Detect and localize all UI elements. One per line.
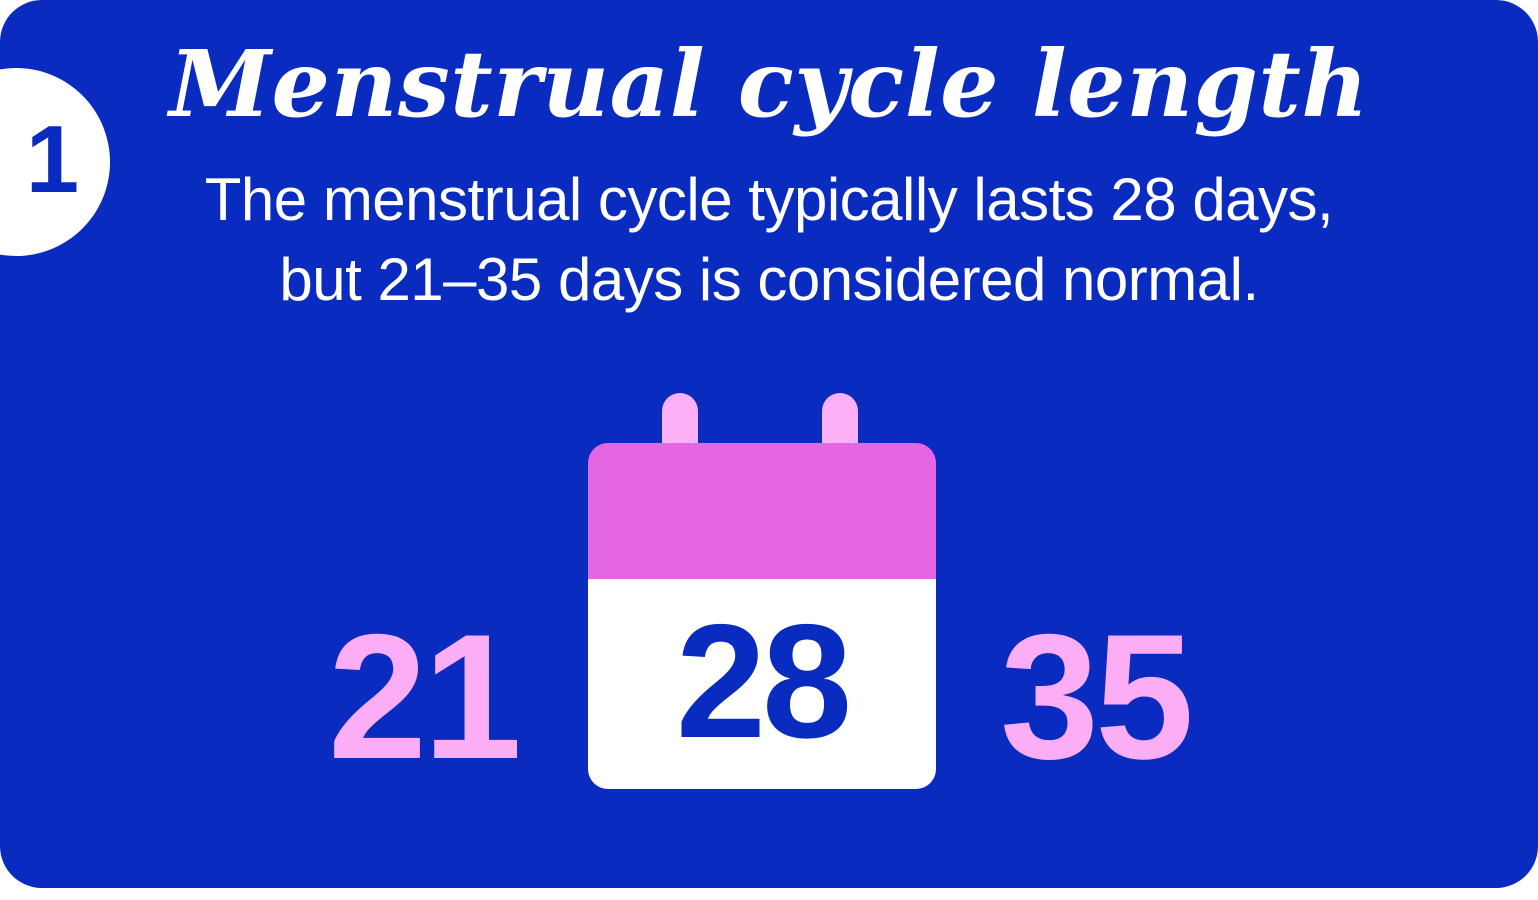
calendar-illustration: 21 28 35 [0, 0, 1538, 888]
calendar-day-number: 28 [676, 601, 848, 763]
calendar-icon: 28 [588, 393, 936, 789]
infographic-card: 1 Menstrual cycle length The menstrual c… [0, 0, 1538, 888]
step-badge-number: 1 [26, 112, 78, 208]
range-minimum-value: 21 [328, 608, 518, 786]
calendar-header-band [588, 443, 936, 579]
calendar-body: 28 [588, 579, 936, 789]
range-maximum-value: 35 [1000, 608, 1190, 786]
